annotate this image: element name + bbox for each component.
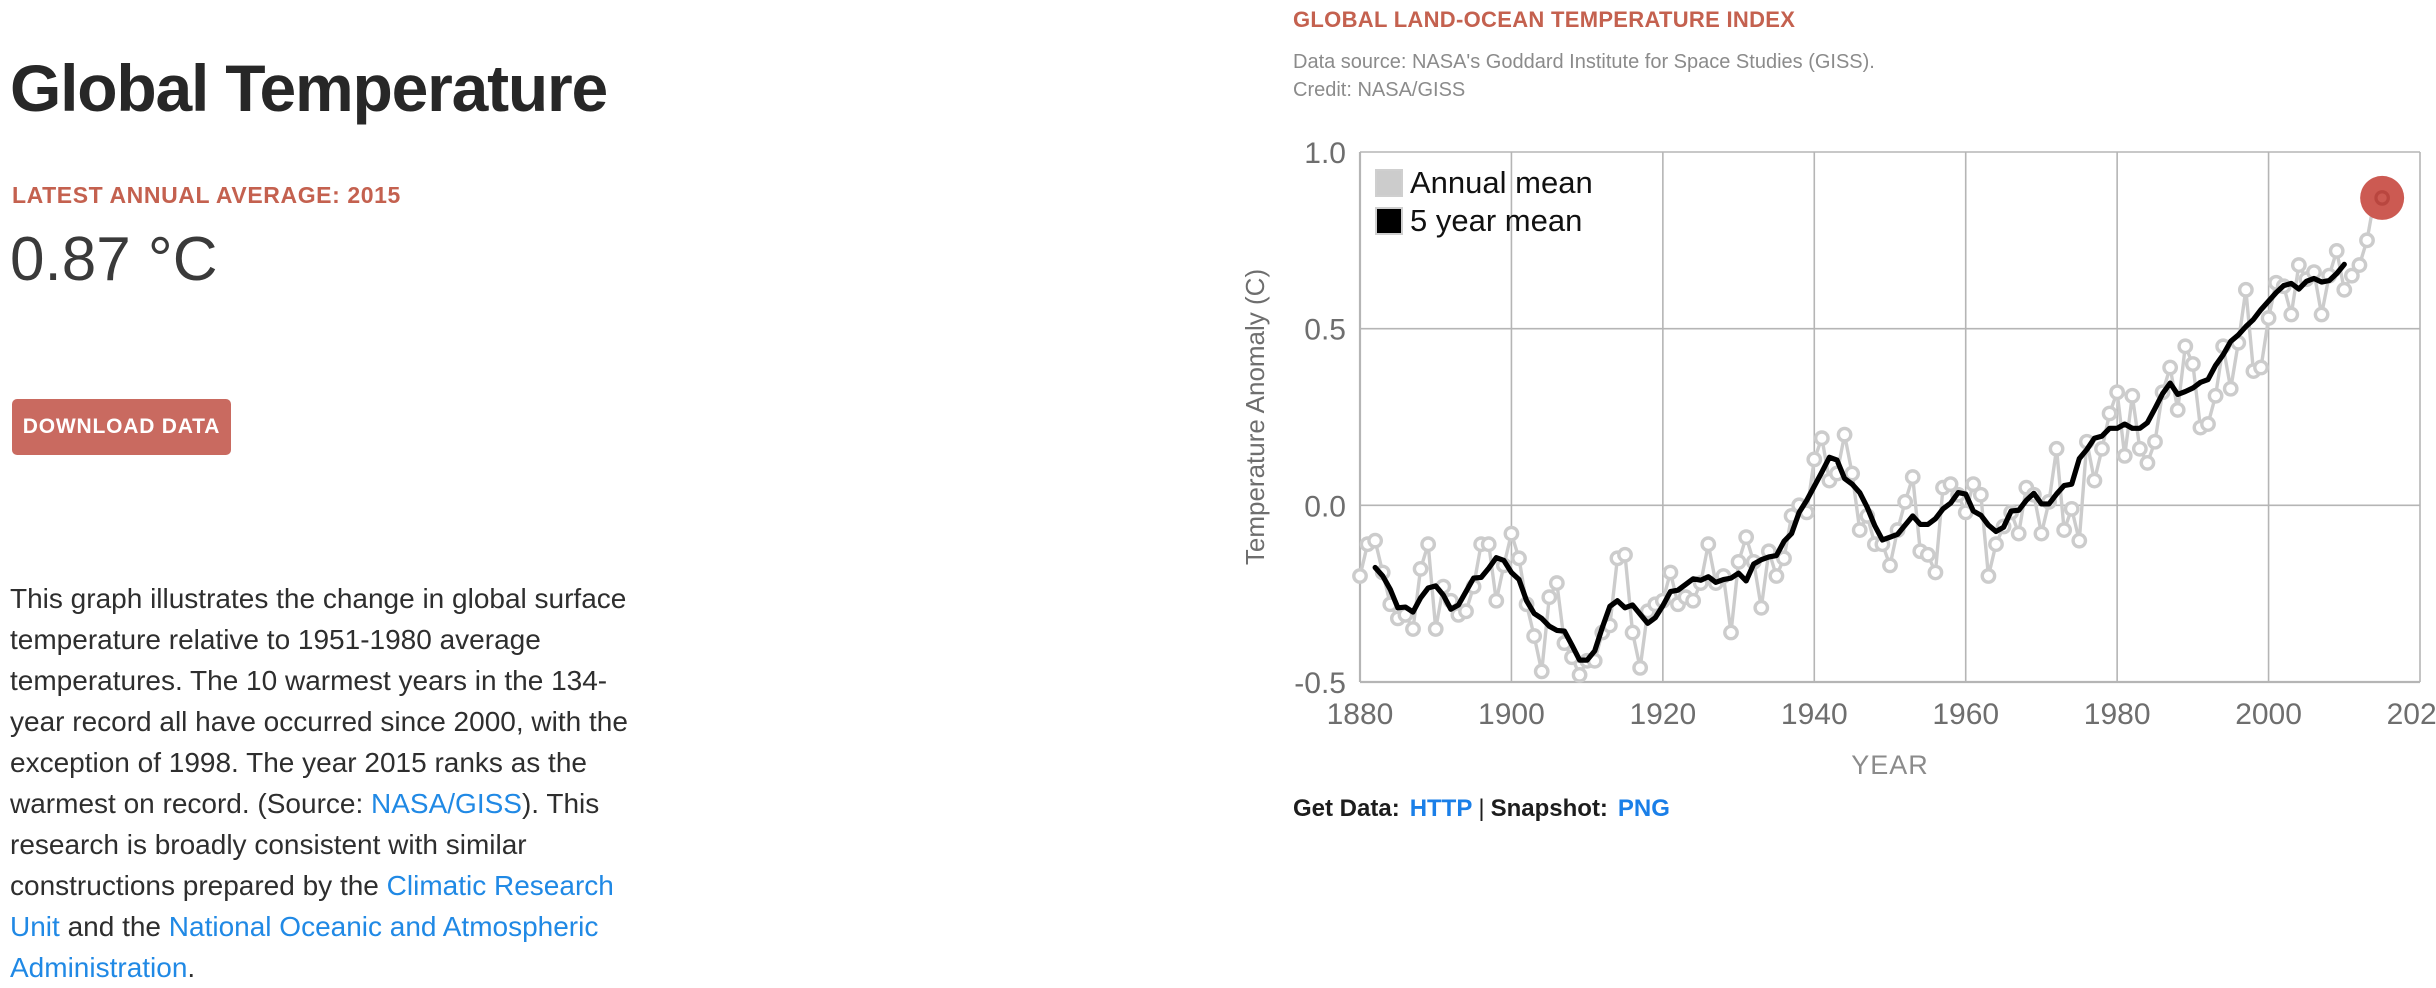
annual-mean-point — [2285, 308, 2297, 320]
y-axis-tick-label: -0.5 — [1294, 667, 1346, 700]
annual-mean-point — [1990, 538, 2002, 550]
x-axis-title: YEAR — [1851, 750, 1929, 780]
annual-mean-point — [1422, 538, 1434, 550]
y-axis-title: Temperature Anomaly (C) — [1240, 269, 1270, 565]
annual-mean-point — [1899, 496, 1911, 508]
annual-mean-point — [1619, 549, 1631, 561]
snapshot-label: Snapshot: — [1491, 795, 1608, 822]
chart-source-credit: Data source: NASA's Goddard Institute fo… — [1293, 48, 1875, 104]
annual-mean-point — [1414, 563, 1426, 575]
annual-mean-point — [1740, 531, 1752, 543]
annual-mean-point — [1369, 534, 1381, 546]
annual-mean-point — [2126, 390, 2138, 402]
description-text-3: and the — [60, 911, 169, 942]
y-axis-tick-label: 0.0 — [1304, 490, 1346, 523]
x-axis-tick-label: 2020 — [2387, 698, 2436, 731]
page-root: Global Temperature LATEST ANNUAL AVERAGE… — [0, 0, 2436, 888]
temperature-anomaly-chart: -0.50.00.51.0188019001920194019601980200… — [1222, 130, 2436, 790]
annual-mean-point — [1884, 559, 1896, 571]
annual-mean-point — [2119, 450, 2131, 462]
chart-credit-line: Credit: NASA/GISS — [1293, 76, 1875, 104]
annual-mean-point — [1634, 662, 1646, 674]
chart-svg: -0.50.00.51.0188019001920194019601980200… — [1222, 130, 2436, 790]
annual-mean-point — [1732, 556, 1744, 568]
chart-title: GLOBAL LAND-OCEAN TEMPERATURE INDEX — [1293, 7, 1795, 33]
annual-mean-point — [2331, 245, 2343, 257]
y-axis-tick-label: 1.0 — [1304, 137, 1346, 170]
download-data-button[interactable]: DOWNLOAD DATA — [12, 399, 231, 455]
annual-mean-point — [2202, 418, 2214, 430]
y-axis-tick-label: 0.5 — [1304, 314, 1346, 347]
annual-mean-point — [2209, 390, 2221, 402]
description-text-1: This graph illustrates the change in glo… — [10, 583, 628, 819]
annual-mean-point — [2050, 443, 2062, 455]
x-axis-tick-label: 1980 — [2084, 698, 2151, 731]
annual-mean-point — [1702, 538, 1714, 550]
annual-mean-point — [1626, 626, 1638, 638]
legend-label: Annual mean — [1410, 165, 1593, 200]
x-axis-tick-label: 1880 — [1327, 698, 1394, 731]
annual-mean-point — [1770, 570, 1782, 582]
annual-mean-point — [1725, 626, 1737, 638]
x-axis-tick-label: 1940 — [1781, 698, 1848, 731]
annual-mean-point — [2013, 527, 2025, 539]
legend-swatch — [1376, 208, 1402, 234]
annual-mean-point — [2293, 259, 2305, 271]
annual-mean-point — [2096, 443, 2108, 455]
latest-annual-average-label: LATEST ANNUAL AVERAGE: 2015 — [12, 182, 401, 209]
annual-mean-point — [1929, 566, 1941, 578]
annual-mean-point — [1354, 570, 1366, 582]
annual-mean-point — [1430, 623, 1442, 635]
x-axis-tick-label: 1960 — [1932, 698, 1999, 731]
annual-mean-point — [2353, 259, 2365, 271]
get-data-label: Get Data: — [1293, 795, 1400, 822]
annual-mean-point — [1755, 602, 1767, 614]
annual-mean-point — [1490, 595, 1502, 607]
highlight-dot-2015 — [2360, 176, 2404, 220]
annual-mean-point — [2262, 312, 2274, 324]
annual-mean-point — [2338, 284, 2350, 296]
description-paragraph: This graph illustrates the change in glo… — [10, 578, 660, 988]
annual-mean-point — [1460, 605, 1472, 617]
annual-mean-point — [1573, 669, 1585, 681]
annual-mean-point — [1907, 471, 1919, 483]
annual-mean-point — [2058, 524, 2070, 536]
annual-mean-point — [2088, 474, 2100, 486]
annual-mean-point — [1854, 524, 1866, 536]
annual-mean-point — [2172, 404, 2184, 416]
legend-label: 5 year mean — [1410, 203, 1582, 238]
annual-mean-point — [1687, 595, 1699, 607]
annual-mean-point — [1551, 577, 1563, 589]
legend-swatch — [1376, 170, 1402, 196]
annual-mean-point — [2149, 436, 2161, 448]
annual-mean-point — [1982, 570, 1994, 582]
annual-mean-point — [1664, 566, 1676, 578]
annual-mean-point — [1513, 552, 1525, 564]
annual-mean-point — [2111, 386, 2123, 398]
x-axis-tick-label: 1900 — [1478, 698, 1545, 731]
annual-mean-point — [2141, 457, 2153, 469]
x-axis-tick-label: 2000 — [2235, 698, 2302, 731]
annual-mean-point — [2225, 383, 2237, 395]
annual-mean-point — [1483, 538, 1495, 550]
get-data-separator: | — [1472, 795, 1490, 822]
annual-mean-point — [2315, 308, 2327, 320]
link-png[interactable]: PNG — [1618, 795, 1670, 822]
annual-mean-point — [2179, 340, 2191, 352]
temperature-value: 0.87 °C — [10, 224, 217, 296]
annual-mean-point — [2035, 527, 2047, 539]
annual-mean-point — [1543, 591, 1555, 603]
annual-mean-point — [1838, 428, 1850, 440]
page-title: Global Temperature — [10, 50, 607, 126]
annual-mean-point — [2066, 503, 2078, 515]
annual-mean-point — [2361, 234, 2373, 246]
annual-mean-point — [2255, 361, 2267, 373]
x-axis-tick-label: 1920 — [1629, 698, 1696, 731]
annual-mean-point — [1505, 527, 1517, 539]
annual-mean-point — [2103, 407, 2115, 419]
description-text-4: . — [187, 952, 195, 983]
right-panel: GLOBAL LAND-OCEAN TEMPERATURE INDEX Data… — [1192, 0, 2436, 888]
annual-mean-point — [1808, 453, 1820, 465]
annual-mean-point — [1816, 432, 1828, 444]
annual-mean-point — [1975, 489, 1987, 501]
annual-mean-point — [2134, 443, 2146, 455]
annual-mean-point — [2073, 534, 2085, 546]
annual-mean-point — [2187, 358, 2199, 370]
annual-mean-point — [1922, 549, 1934, 561]
annual-mean-point — [2164, 361, 2176, 373]
annual-mean-point — [1407, 623, 1419, 635]
chart-source-line: Data source: NASA's Goddard Institute fo… — [1293, 48, 1875, 76]
left-panel: Global Temperature LATEST ANNUAL AVERAGE… — [0, 0, 1190, 888]
download-data-label: DOWNLOAD DATA — [23, 415, 220, 439]
annual-mean-point — [2240, 284, 2252, 296]
get-data-row: Get Data:HTTP|Snapshot:PNG — [1293, 795, 1670, 823]
annual-mean-point — [1536, 665, 1548, 677]
link-http[interactable]: HTTP — [1410, 795, 1473, 822]
annual-mean-point — [1528, 630, 1540, 642]
link-nasa-giss[interactable]: NASA/GISS — [371, 788, 522, 819]
